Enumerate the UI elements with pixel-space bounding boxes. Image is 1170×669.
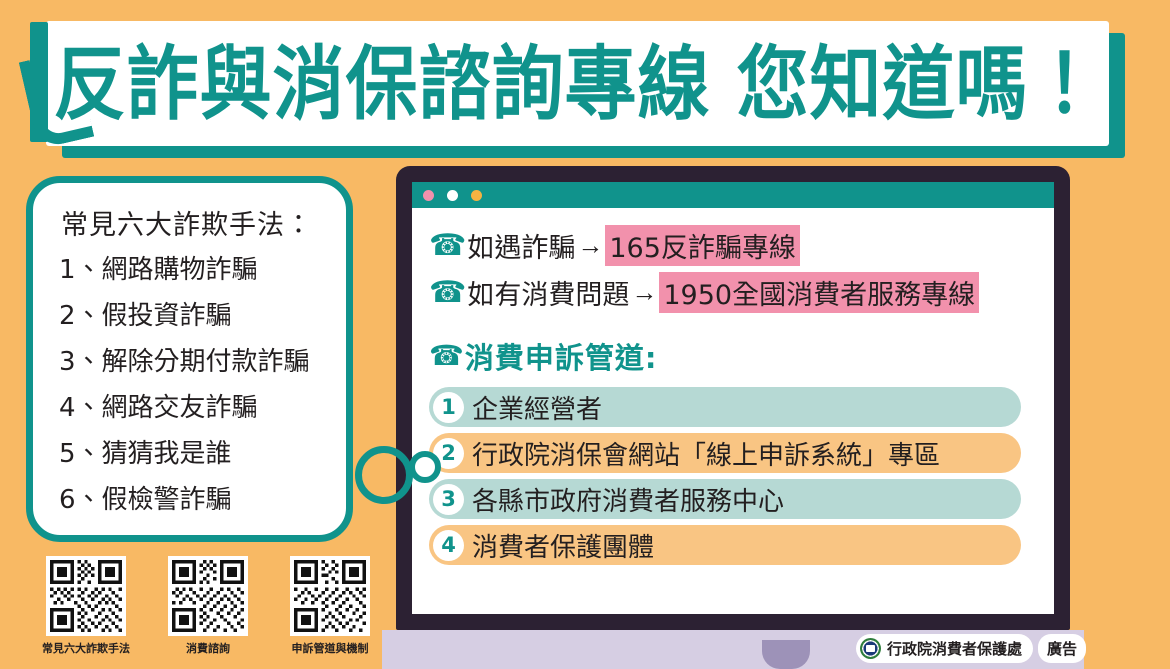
laptop-screen: ☎ 如遇詐騙 → 165反詐騙專線 ☎ 如有消費問題 → 1950全國消費者服務… xyxy=(412,182,1054,614)
channel-label: 行政院消保會網站「線上申訴系統」專區 xyxy=(472,435,940,472)
list-item: 5、猜猜我是誰 xyxy=(59,433,332,470)
list-item: 4、網路交友詐騙 xyxy=(59,387,332,424)
qr-cell[interactable]: 常見六大詐欺手法 xyxy=(38,556,134,656)
complaint-channels-heading: ☎ 消費申訴管道: xyxy=(429,335,1040,377)
hotline-row-1: ☎ 如遇詐騙 → 165反詐騙專線 xyxy=(429,225,1040,266)
fraud-methods-card: 常見六大詐欺手法： 1、網路購物詐騙 2、假投資詐騙 3、解除分期付款詐騙 4、… xyxy=(26,176,353,542)
hotline-number-165: 165反詐騙專線 xyxy=(605,225,800,266)
decorative-ring-large-icon xyxy=(355,446,413,504)
hotline-prefix: 如有消費問題 xyxy=(467,273,629,312)
channel-label: 消費者保護團體 xyxy=(472,527,654,564)
agency-name: 行政院消費者保護處 xyxy=(887,638,1022,659)
fraud-methods-heading: 常見六大詐欺手法： xyxy=(61,203,332,242)
footer-badge: 行政院消費者保護處 廣告 xyxy=(856,634,1086,663)
qr-code-icon xyxy=(46,556,126,636)
infographic-canvas: 反詐與消保諮詢專線 您知道嗎！ 常見六大詐欺手法： 1、網路購物詐騙 2、假投資… xyxy=(0,0,1170,669)
browser-title-bar xyxy=(412,182,1054,208)
channel-number-badge: 3 xyxy=(433,484,464,515)
page-title: 反詐與消保諮詢專線 您知道嗎！ xyxy=(53,43,1101,124)
maximize-dot-icon[interactable] xyxy=(471,190,482,201)
agency-badge: 行政院消費者保護處 xyxy=(856,634,1033,663)
hotline-row-2: ☎ 如有消費問題 → 1950全國消費者服務專線 xyxy=(429,272,1040,313)
channel-item-2[interactable]: 2 行政院消保會網站「線上申訴系統」專區 xyxy=(429,433,1021,473)
qr-cell[interactable]: 消費諮詢 xyxy=(160,556,256,656)
list-item: 2、假投資詐騙 xyxy=(59,295,332,332)
gov-emblem-icon xyxy=(860,638,881,659)
channel-label: 各縣市政府消費者服務中心 xyxy=(472,481,784,518)
channel-item-1[interactable]: 1 企業經營者 xyxy=(429,387,1021,427)
qr-caption: 消費諮詢 xyxy=(186,640,230,656)
channel-number-badge: 4 xyxy=(433,530,464,561)
arrow-right-icon: → xyxy=(631,277,657,308)
telephone-icon: ☎ xyxy=(429,231,466,261)
list-item: 3、解除分期付款詐騙 xyxy=(59,341,332,378)
hotline-prefix: 如遇詐騙 xyxy=(467,226,575,265)
section-title: 消費申訴管道: xyxy=(465,335,658,377)
laptop-trackpad-notch xyxy=(762,640,810,669)
qr-code-row: 常見六大詐欺手法 xyxy=(38,556,386,656)
channel-item-4[interactable]: 4 消費者保護團體 xyxy=(429,525,1021,565)
list-item: 6、假檢警詐騙 xyxy=(59,479,332,516)
qr-caption: 申訴管道與機制 xyxy=(292,640,369,656)
arrow-right-icon: → xyxy=(577,230,603,261)
decorative-ring-small-icon xyxy=(409,451,441,483)
list-item: 1、網路購物詐騙 xyxy=(59,249,332,286)
telephone-icon: ☎ xyxy=(429,342,464,370)
close-dot-icon[interactable] xyxy=(423,190,434,201)
ad-badge: 廣告 xyxy=(1038,634,1086,663)
qr-cell[interactable]: 申訴管道與機制 xyxy=(282,556,378,656)
telephone-icon: ☎ xyxy=(429,278,466,308)
channel-item-3[interactable]: 3 各縣市政府消費者服務中心 xyxy=(429,479,1021,519)
screen-content: ☎ 如遇詐騙 → 165反詐騙專線 ☎ 如有消費問題 → 1950全國消費者服務… xyxy=(412,208,1054,565)
channel-number-badge: 1 xyxy=(433,392,464,423)
qr-code-icon xyxy=(168,556,248,636)
qr-caption: 常見六大詐欺手法 xyxy=(42,640,130,656)
hotline-number-1950: 1950全國消費者服務專線 xyxy=(659,272,979,313)
channel-label: 企業經營者 xyxy=(472,389,602,426)
minimize-dot-icon[interactable] xyxy=(447,190,458,201)
qr-code-icon xyxy=(290,556,370,636)
title-banner: 反詐與消保諮詢專線 您知道嗎！ xyxy=(46,21,1109,146)
ad-label: 廣告 xyxy=(1047,638,1077,659)
